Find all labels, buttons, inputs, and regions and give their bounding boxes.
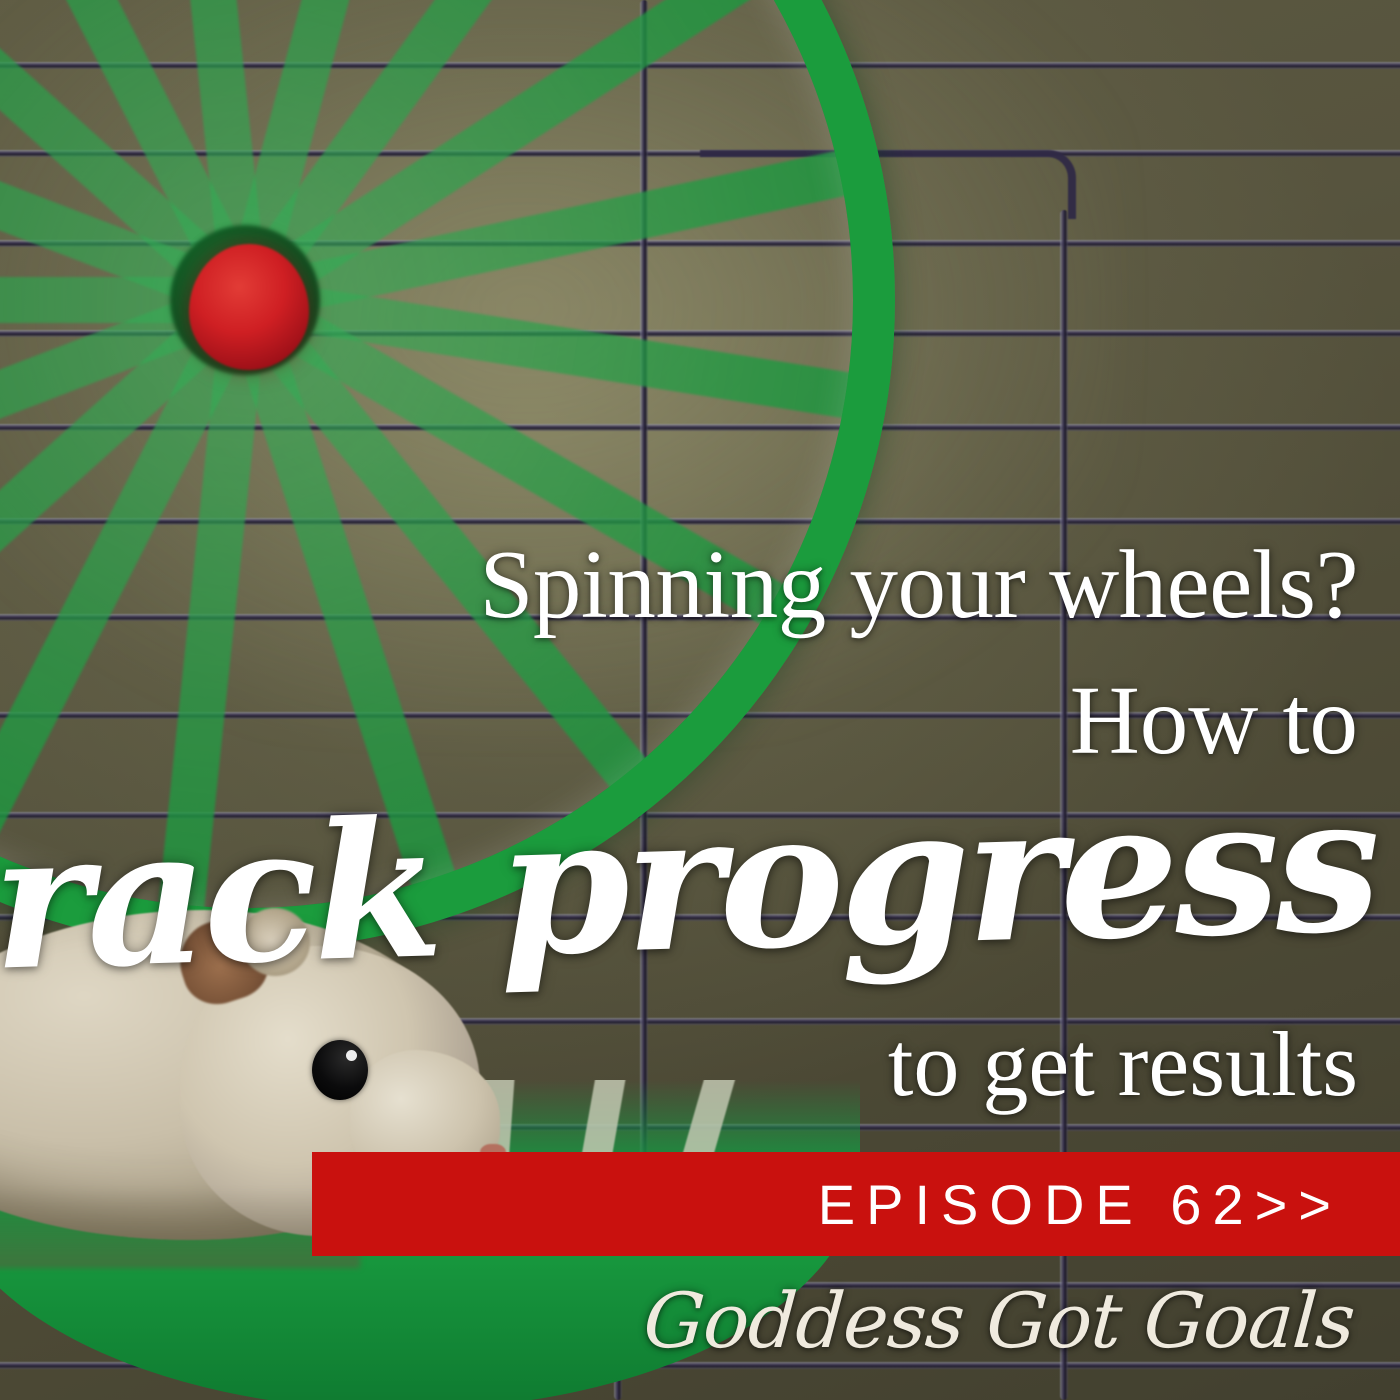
hamster-eye (312, 1040, 368, 1100)
episode-cover-artwork: Spinning your wheels? How to track progr… (0, 0, 1400, 1400)
episode-banner-label: EPISODE 62>> (818, 1172, 1400, 1237)
headline-line-1: Spinning your wheels? (479, 536, 1358, 633)
headline-script-emphasis: track progress (0, 770, 1379, 999)
hamster-feet (0, 1188, 360, 1268)
episode-banner[interactable]: EPISODE 62>> (312, 1152, 1400, 1256)
headline-line-4: to get results (888, 1018, 1358, 1110)
wheel-hub-red-cap (189, 244, 309, 370)
brand-name: Goddess Got Goals (641, 1276, 1357, 1365)
